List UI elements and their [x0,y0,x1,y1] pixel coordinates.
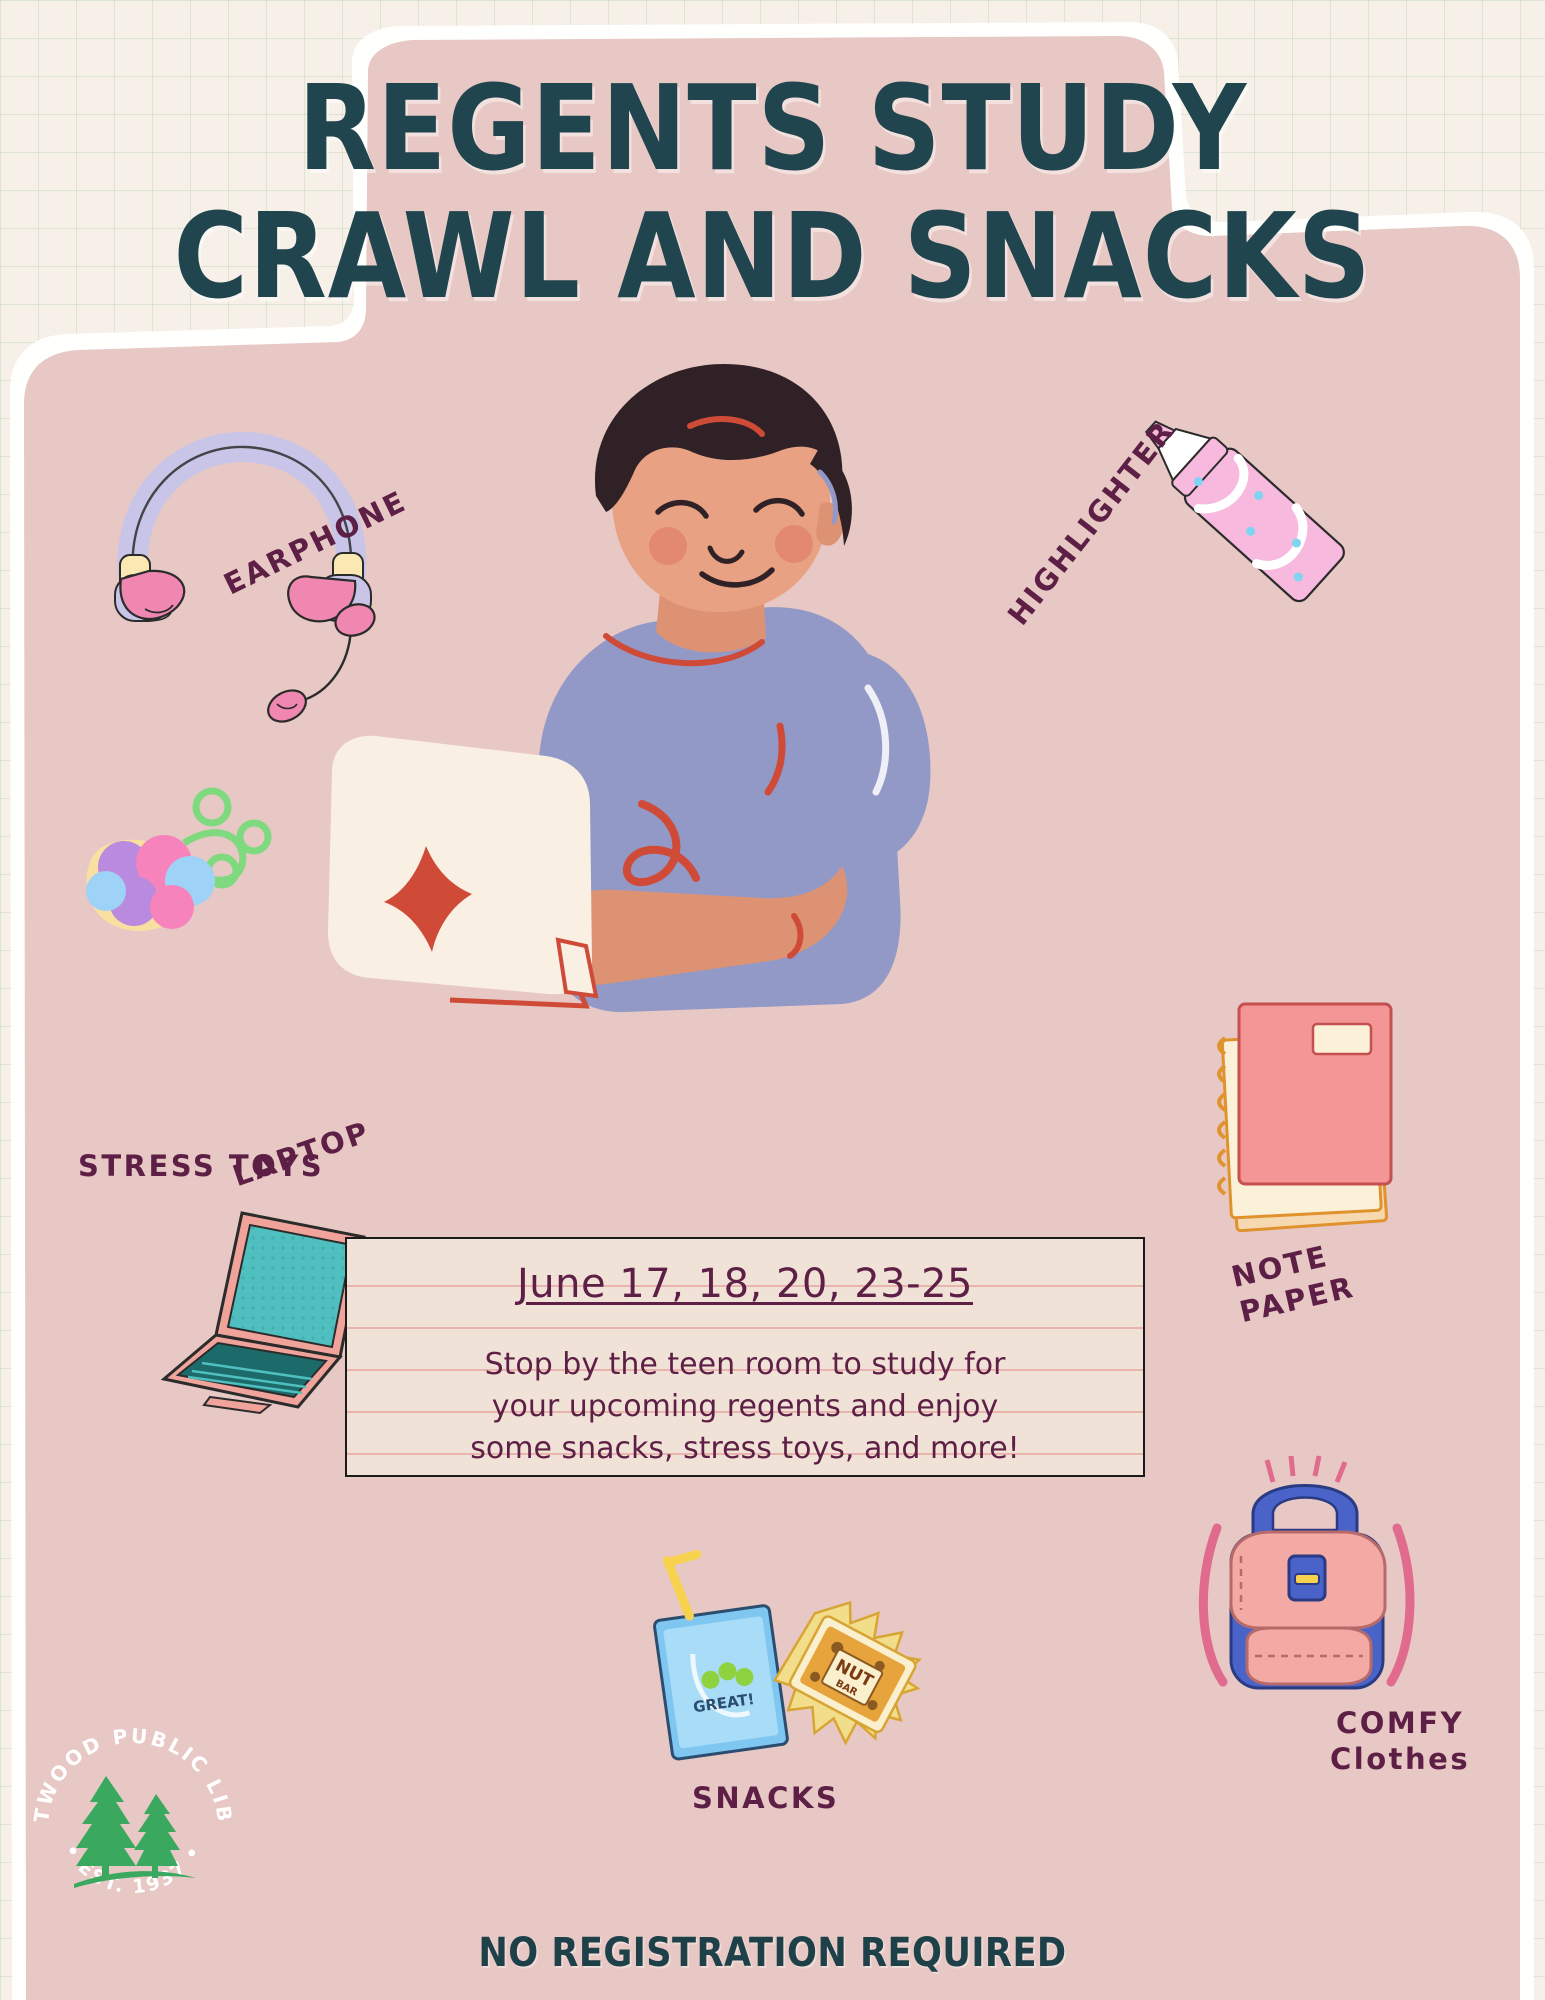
library-logo: BRENTWOOD PUBLIC LIBRARY • EST. 1937 • [28,1718,238,1928]
event-description-line-2: your upcoming regents and enjoy [369,1386,1121,1428]
stress-toys-illustration [72,785,272,955]
event-description-line-3: some snacks, stress toys, and more! [369,1428,1121,1470]
page-title-line-1: REGENTS STUDY [108,72,1437,184]
poster-canvas: REGENTS STUDY CRAWL AND SNACKS EARPHONE [0,0,1545,2000]
earbud-illustration [265,610,395,730]
label-snacks: SNACKS [692,1780,839,1816]
footer-no-registration: NO REGISTRATION REQUIRED [93,1930,1453,1976]
label-comfy-line1: COMFY [1336,1706,1464,1740]
note-paper-illustration [1205,990,1435,1250]
event-description: Stop by the teen room to study for your … [369,1344,1121,1470]
label-comfy-line2: Clothes [1330,1742,1470,1776]
library-logo-established: • EST. 1937 • [60,1841,207,1899]
highlighter-illustration [1140,430,1360,610]
label-comfy-clothes: COMFY Clothes [1330,1705,1470,1778]
page-title-line-2: CRAWL AND SNACKS [108,200,1437,312]
event-description-line-1: Stop by the teen room to study for [369,1344,1121,1386]
student-illustration [390,400,1070,1260]
snacks-illustration: GREAT! NUT BAR [640,1545,940,1785]
backpack-illustration [1195,1460,1425,1720]
event-info-card: June 17, 18, 20, 23-25 Stop by the teen … [345,1237,1145,1477]
event-date: June 17, 18, 20, 23-25 [347,1261,1143,1307]
library-logo-arc-text: BRENTWOOD PUBLIC LIBRARY [28,1718,237,1825]
